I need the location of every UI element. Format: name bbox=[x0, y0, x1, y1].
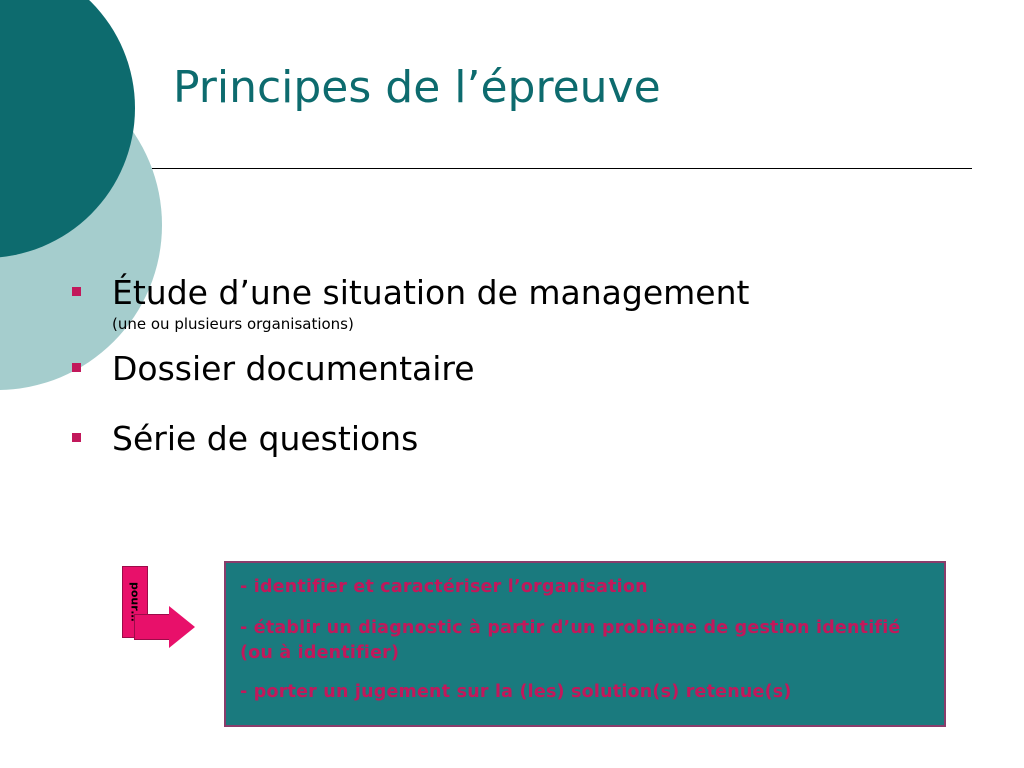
square-bullet-icon bbox=[72, 287, 81, 296]
list-item-label: Étude d’une situation de management bbox=[112, 270, 970, 316]
list-item: Dossier documentaire bbox=[70, 346, 970, 392]
pour-arrow-shape: pour… bbox=[122, 566, 202, 662]
list-item-label: Série de questions bbox=[112, 416, 970, 462]
callout-box: - identifier et caractériser l’organisat… bbox=[224, 561, 946, 727]
callout-line: - identifier et caractériser l’organisat… bbox=[240, 575, 930, 600]
list-item: Série de questions bbox=[70, 416, 970, 462]
callout-line: - porter un jugement sur la (les) soluti… bbox=[240, 680, 930, 705]
title-divider bbox=[152, 168, 972, 169]
list-item: Étude d’une situation de management (une… bbox=[70, 270, 970, 334]
list-item-subtext: (une ou plusieurs organisations) bbox=[112, 314, 970, 334]
arrow-body bbox=[134, 614, 170, 640]
square-bullet-icon bbox=[72, 363, 81, 372]
square-bullet-icon bbox=[72, 433, 81, 442]
arrow-head-icon bbox=[169, 606, 195, 648]
list-item-label: Dossier documentaire bbox=[112, 346, 970, 392]
slide-title: Principes de l’épreuve bbox=[173, 62, 661, 113]
bullet-list: Étude d’une situation de management (une… bbox=[70, 270, 970, 468]
callout-line: - établir un diagnostic à partir d’un pr… bbox=[240, 616, 930, 666]
